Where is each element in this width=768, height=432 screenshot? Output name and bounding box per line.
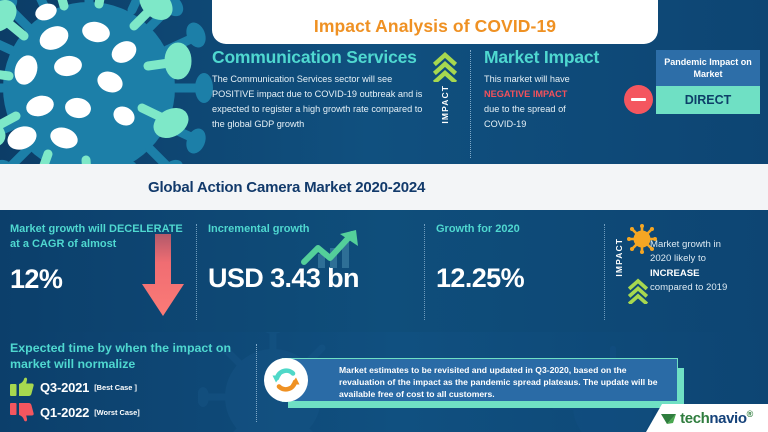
communication-services-block: Communication Services The Communication… <box>212 48 428 132</box>
impact-label-top: IMPACT <box>440 85 450 124</box>
chevron-up-icon <box>433 52 457 82</box>
impact-right-line1: Market growth in <box>650 239 721 250</box>
logo-trademark: ® <box>747 409 753 419</box>
impact-indicator-right: IMPACT <box>612 234 646 326</box>
divider-metric-3 <box>604 224 605 320</box>
impact-right-line2: 2020 likely to <box>650 253 706 264</box>
market-impact-line3: COVID-19 <box>484 119 526 129</box>
chevron-up-icon-right <box>628 278 648 304</box>
market-title-band: Global Action Camera Market 2020-2024 <box>0 164 768 210</box>
thumbs-down-icon <box>10 402 34 422</box>
divider-bottom <box>256 344 257 422</box>
minus-circle-icon <box>624 85 653 114</box>
logo-part-navio: navio <box>709 410 746 427</box>
market-impact-highlight: NEGATIVE IMPACT <box>484 89 567 99</box>
pandemic-impact-box: Pandemic Impact on Market DIRECT <box>656 50 760 114</box>
communication-services-heading: Communication Services <box>212 48 428 66</box>
case-tag-worst: [Worst Case] <box>94 408 139 417</box>
communication-services-body: The Communication Services sector will s… <box>212 72 428 132</box>
case-row-best: Q3-2021 [Best Case ] <box>10 377 260 397</box>
refresh-cycle-icon <box>264 358 308 402</box>
normalize-heading: Expected time by when the impact on mark… <box>10 340 260 372</box>
metrics-band: Market growth will DECELERATE at a CAGR … <box>0 210 768 332</box>
market-title: Global Action Camera Market 2020-2024 <box>148 179 425 196</box>
market-impact-line2: due to the spread of <box>484 104 566 114</box>
down-arrow-icon <box>140 234 186 318</box>
metric-growth-2020: Growth for 2020 12.25% <box>436 222 611 294</box>
market-impact-block: Market Impact This market will have NEGA… <box>484 48 636 132</box>
header-band: Impact Analysis of COVID-19 Communicatio… <box>0 0 768 164</box>
case-quarter-best: Q3-2021 <box>40 380 89 395</box>
case-quarter-worst: Q1-2022 <box>40 405 89 420</box>
impact-right-highlight: INCREASE <box>650 268 700 279</box>
note-box: Market estimates to be revisited and upd… <box>282 358 678 402</box>
note-text: Market estimates to be revisited and upd… <box>339 365 658 399</box>
growth-chart-arrow-icon <box>300 228 366 272</box>
page-title: Impact Analysis of COVID-19 <box>314 16 556 37</box>
thumbs-up-icon <box>10 377 34 397</box>
logo-part-tech: tech <box>680 410 709 427</box>
title-card: Impact Analysis of COVID-19 <box>212 0 658 44</box>
pandemic-impact-title: Pandemic Impact on Market <box>656 50 760 86</box>
market-impact-body: This market will have NEGATIVE IMPACT du… <box>484 72 636 132</box>
metric-impact-right-text: Market growth in 2020 likely to INCREASE… <box>650 238 766 296</box>
market-impact-line1: This market will have <box>484 74 570 84</box>
metric-growth-2020-label: Growth for 2020 <box>436 222 611 237</box>
divider-metric-1 <box>196 224 197 320</box>
case-tag-best: [Best Case ] <box>94 383 137 392</box>
pandemic-impact-value: DIRECT <box>656 86 760 114</box>
impact-label-right: IMPACT <box>614 238 624 277</box>
normalize-block: Expected time by when the impact on mark… <box>10 340 260 422</box>
technavio-logo: technavio® <box>646 404 768 432</box>
technavio-arrow-icon <box>661 412 676 425</box>
impact-right-line3: compared to 2019 <box>650 282 727 293</box>
technavio-wordmark: technavio® <box>680 409 753 427</box>
metric-growth-2020-value: 12.25% <box>436 263 611 294</box>
impact-indicator-top: IMPACT <box>432 52 458 156</box>
divider-metric-2 <box>424 224 425 320</box>
infographic-canvas: Impact Analysis of COVID-19 Communicatio… <box>0 0 768 432</box>
divider-top <box>470 50 471 158</box>
market-impact-heading: Market Impact <box>484 48 636 66</box>
case-row-worst: Q1-2022 [Worst Case] <box>10 402 260 422</box>
